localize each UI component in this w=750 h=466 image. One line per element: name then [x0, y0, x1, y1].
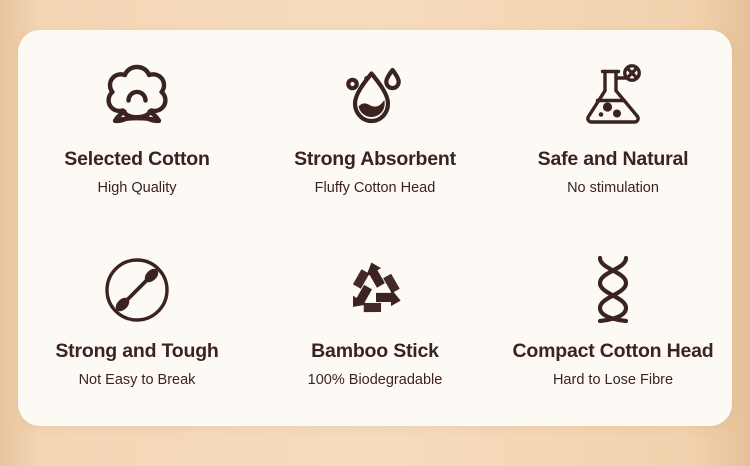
feature-title: Strong and Tough [55, 340, 218, 363]
feature-item-safe-and-natural: Safe and Natural No stimulation [494, 30, 732, 228]
page-background: Selected Cotton High Quality Strong Abso… [0, 0, 750, 466]
feature-title: Selected Cotton [64, 148, 209, 171]
cotton-boll-icon [98, 52, 176, 138]
feature-item-strong-absorbent: Strong Absorbent Fluffy Cotton Head [256, 30, 494, 228]
recycle-icon [340, 250, 410, 330]
feature-title: Strong Absorbent [294, 148, 456, 171]
feature-subtitle: 100% Biodegradable [308, 372, 443, 388]
feature-item-compact-cotton-head: Compact Cotton Head Hard to Lose Fibre [494, 228, 732, 426]
feature-subtitle: No stimulation [567, 180, 659, 196]
water-drop-icon [336, 52, 414, 138]
feature-item-bamboo-stick: Bamboo Stick 100% Biodegradable [256, 228, 494, 426]
dna-helix-icon [582, 250, 644, 330]
feature-title: Bamboo Stick [311, 340, 439, 363]
feature-card: Selected Cotton High Quality Strong Abso… [18, 30, 732, 426]
feature-item-strong-and-tough: Strong and Tough Not Easy to Break [18, 228, 256, 426]
feature-subtitle: Fluffy Cotton Head [315, 180, 436, 196]
feature-subtitle: Not Easy to Break [79, 372, 196, 388]
feature-item-selected-cotton: Selected Cotton High Quality [18, 30, 256, 228]
feature-subtitle: High Quality [98, 180, 177, 196]
cotton-swab-in-circle-icon [100, 250, 174, 330]
feature-title: Compact Cotton Head [513, 340, 714, 363]
feature-subtitle: Hard to Lose Fibre [553, 372, 673, 388]
flask-no-chemicals-icon [574, 52, 652, 138]
feature-grid: Selected Cotton High Quality Strong Abso… [18, 30, 732, 426]
feature-title: Safe and Natural [538, 148, 689, 171]
